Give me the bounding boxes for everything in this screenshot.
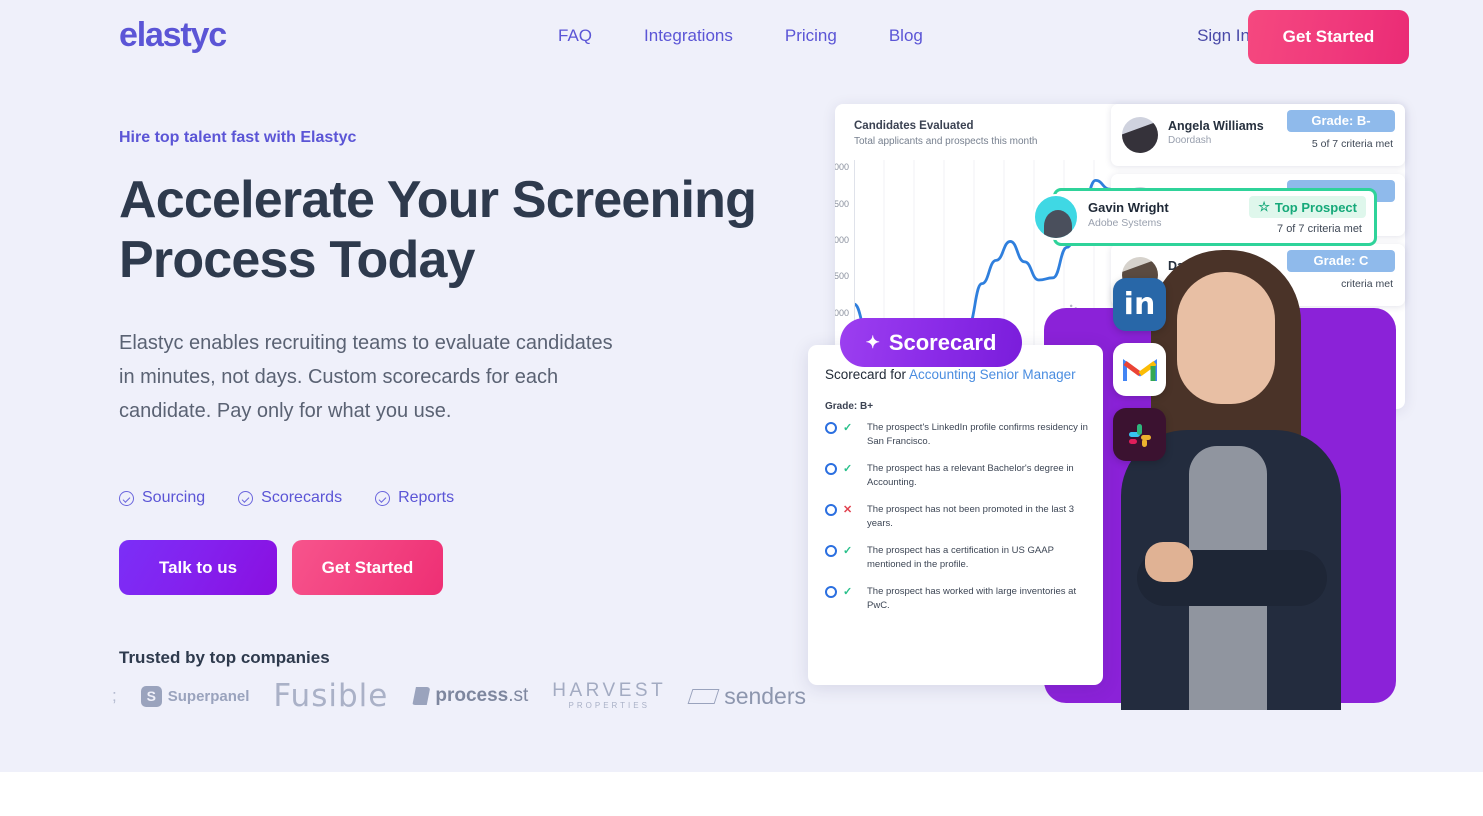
- nav-link-faq[interactable]: FAQ: [558, 26, 592, 46]
- status-badge: Grade: C: [1287, 250, 1395, 272]
- linkedin-icon[interactable]: in: [1113, 278, 1166, 331]
- criterion-text: The prospect has a relevant Bachelor's d…: [851, 462, 1093, 490]
- icon-glyph: in: [1124, 287, 1156, 322]
- slack-icon[interactable]: [1113, 408, 1166, 461]
- nav-link-pricing[interactable]: Pricing: [785, 26, 837, 46]
- scorecard-heading: Scorecard for Accounting Senior Manager: [825, 367, 1076, 382]
- logo-harvest-properties: HARVEST PROPERTIES: [552, 681, 666, 711]
- hero-description: Elastyc enables recruiting teams to eval…: [119, 326, 619, 428]
- nav-links: FAQ Integrations Pricing Blog: [558, 26, 923, 46]
- integration-icons: in: [1113, 278, 1166, 473]
- logo-label: Superpanel: [168, 688, 250, 705]
- logo-label: senders: [724, 683, 806, 710]
- badge-label: Top Prospect: [1275, 200, 1357, 215]
- candidate-name: Gavin Wright: [1088, 200, 1169, 215]
- check-icon: ✓: [843, 462, 852, 475]
- candidate-company: Coinbase: [1168, 275, 1210, 286]
- candidate-criteria: 7 of 7 criteria met: [1277, 223, 1362, 235]
- logo-label: HARVEST: [552, 681, 666, 702]
- logo-superpanel: Superpanel: [141, 686, 250, 707]
- table-row[interactable]: Angela Williams Doordash Grade: B- 5 of …: [1111, 104, 1405, 166]
- sign-in-link[interactable]: Sign In: [1197, 26, 1250, 46]
- scorecard-criterion: ✓The prospect has worked with large inve…: [825, 585, 1093, 615]
- scorecard-heading-prefix: Scorecard for: [825, 367, 909, 382]
- circle-bullet-icon: [825, 463, 837, 475]
- nav-link-blog[interactable]: Blog: [889, 26, 923, 46]
- top-prospect-card[interactable]: Gavin Wright Adobe Systems ☆ Top Prospec…: [1053, 188, 1377, 246]
- check-icon: ✓: [843, 421, 852, 434]
- feature-list: Sourcing Scorecards Reports: [119, 489, 454, 507]
- process-mark-icon: [412, 687, 430, 705]
- avatar: [1033, 194, 1079, 240]
- chart-y-tick: 2500: [835, 271, 849, 281]
- scorecard-criterion: ✓The prospect's LinkedIn profile confirm…: [825, 421, 1093, 451]
- candidate-company: Doordash: [1168, 135, 1211, 146]
- nav-link-integrations[interactable]: Integrations: [644, 26, 733, 46]
- status-badge: Grade: B-: [1287, 110, 1395, 132]
- hero-cta-row: Talk to us Get Started: [119, 540, 443, 595]
- logo-fusible: Fusible: [273, 678, 388, 714]
- hero-eyebrow: Hire top talent fast with Elastyc: [119, 129, 356, 147]
- hero-get-started-button[interactable]: Get Started: [292, 540, 443, 595]
- feature-sourcing: Sourcing: [119, 489, 205, 507]
- scorecard-grade: Grade: B+: [825, 401, 873, 412]
- scorecard-criterion: ✓The prospect has a certification in US …: [825, 544, 1093, 574]
- circle-check-icon: [238, 491, 253, 506]
- hero-section: elastyc FAQ Integrations Pricing Blog Si…: [0, 0, 1483, 772]
- scorecard-badge: ✦ Scorecard: [840, 318, 1022, 367]
- chart-y-tick: 3000: [835, 235, 849, 245]
- feature-scorecards: Scorecards: [238, 489, 342, 507]
- page-title: Accelerate Your Screening Process Today: [119, 170, 759, 290]
- gmail-icon[interactable]: [1113, 343, 1166, 396]
- criterion-text: The prospect's LinkedIn profile confirms…: [851, 421, 1093, 449]
- candidate-criteria: 5 of 7 criteria met: [1312, 138, 1393, 150]
- trusted-by-title: Trusted by top companies: [119, 648, 330, 668]
- partner-logo-row: ; Superpanel Fusible process.st HARVEST …: [112, 678, 806, 714]
- partial-logo: ;: [112, 686, 117, 706]
- chart-y-tick: 3500: [835, 199, 849, 209]
- check-icon: ✓: [843, 585, 852, 598]
- circle-bullet-icon: [825, 545, 837, 557]
- chart-y-tick: 4000: [835, 162, 849, 172]
- cross-icon: ✕: [843, 503, 852, 516]
- sparkle-icon: ✦: [866, 333, 880, 353]
- brand-logo[interactable]: elastyc: [119, 16, 226, 55]
- chart-y-tick: 2000: [835, 308, 849, 318]
- scorecard-panel: Scorecard for Accounting Senior Manager …: [808, 345, 1103, 685]
- logo-process-st: process.st: [412, 685, 528, 707]
- star-icon: ☆: [1258, 199, 1270, 215]
- avatar: [1122, 117, 1158, 153]
- candidate-name: Angela Williams: [1168, 119, 1264, 133]
- circle-check-icon: [119, 491, 134, 506]
- logo-label: process: [435, 685, 508, 706]
- logo-senders: senders: [690, 683, 806, 710]
- scorecard-criterion: ✓The prospect has a relevant Bachelor's …: [825, 462, 1093, 492]
- scorecard-role: Accounting Senior Manager: [909, 367, 1076, 382]
- chart-subtitle: Total applicants and prospects this mont…: [854, 136, 1037, 147]
- criterion-text: The prospect has a certification in US G…: [851, 544, 1093, 572]
- candidate-criteria: criteria met: [1341, 278, 1393, 290]
- slack-glyph: [1125, 420, 1155, 450]
- superpanel-mark-icon: [141, 686, 162, 707]
- nav-get-started-button[interactable]: Get Started: [1248, 10, 1409, 64]
- talk-to-us-button[interactable]: Talk to us: [119, 540, 277, 595]
- chart-title: Candidates Evaluated: [854, 120, 974, 132]
- criterion-text: The prospect has not been promoted in th…: [851, 503, 1093, 531]
- check-icon: ✓: [843, 544, 852, 557]
- feature-label: Scorecards: [261, 489, 342, 507]
- badge-label: Scorecard: [889, 330, 997, 356]
- circle-bullet-icon: [825, 422, 837, 434]
- candidate-name: David Collins: [1168, 259, 1247, 273]
- gmail-glyph: [1123, 357, 1157, 383]
- circle-check-icon: [375, 491, 390, 506]
- logo-sublabel: PROPERTIES: [552, 702, 666, 711]
- hero-product-visual: Candidates Evaluated Total applicants an…: [808, 100, 1413, 710]
- candidate-company: Adobe Systems: [1088, 217, 1162, 229]
- circle-bullet-icon: [825, 586, 837, 598]
- scorecard-criteria-list: ✓The prospect's LinkedIn profile confirm…: [825, 421, 1093, 626]
- logo-suffix: .st: [508, 685, 528, 706]
- top-navigation: elastyc FAQ Integrations Pricing Blog Si…: [0, 0, 1483, 74]
- feature-label: Reports: [398, 489, 454, 507]
- scorecard-criterion: ✕The prospect has not been promoted in t…: [825, 503, 1093, 533]
- criterion-text: The prospect has worked with large inven…: [851, 585, 1093, 613]
- senders-mark-icon: [688, 689, 720, 704]
- feature-label: Sourcing: [142, 489, 205, 507]
- circle-bullet-icon: [825, 504, 837, 516]
- feature-reports: Reports: [375, 489, 454, 507]
- status-badge: ☆ Top Prospect: [1249, 196, 1366, 218]
